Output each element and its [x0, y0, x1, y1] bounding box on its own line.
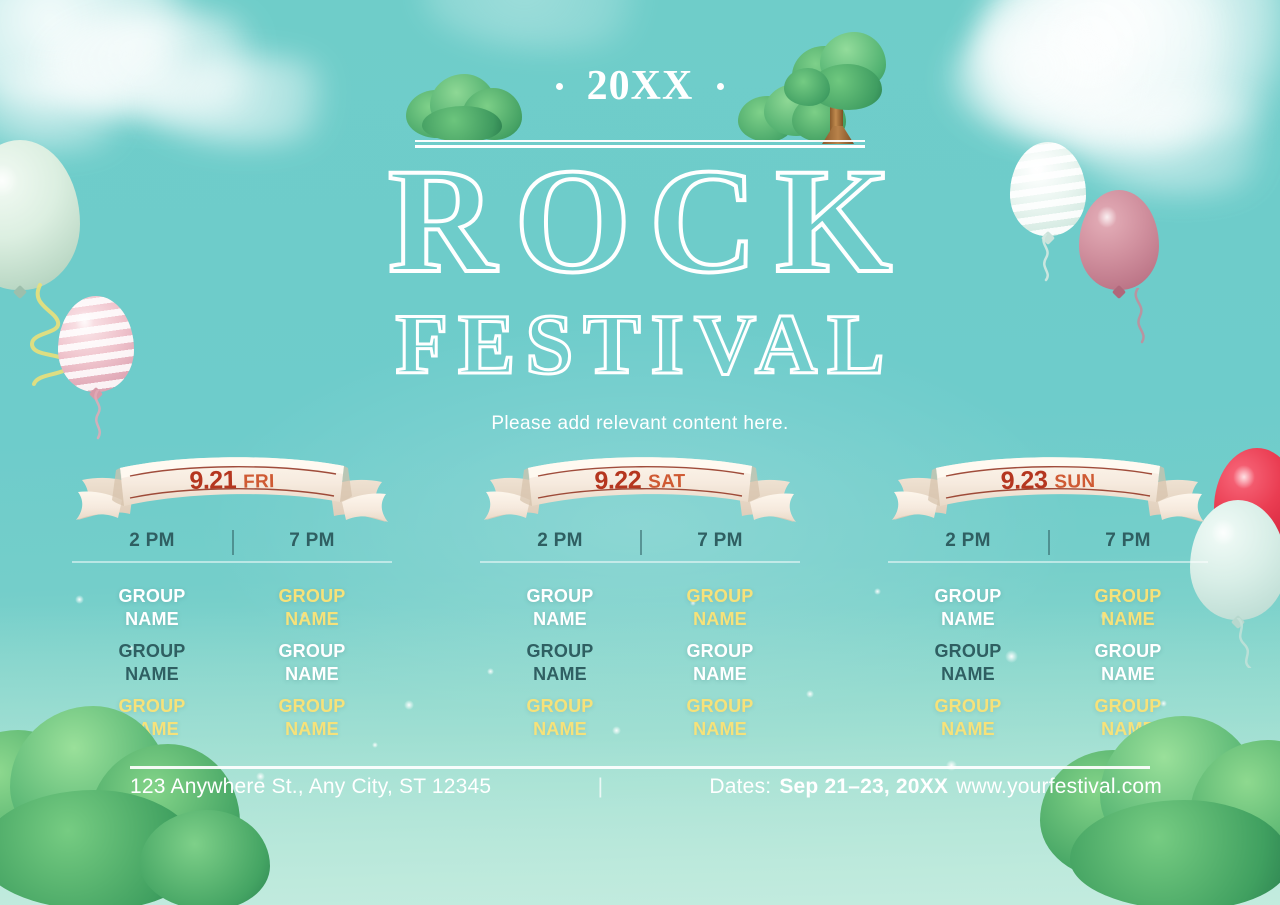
group-name[interactable]: GROUPNAME	[72, 695, 232, 741]
time-header-row: 2 PM7 PM	[480, 530, 800, 563]
group-name[interactable]: GROUPNAME	[1048, 585, 1208, 631]
time-header-row: 2 PM7 PM	[72, 530, 392, 563]
group-name[interactable]: GROUPNAME	[480, 695, 640, 741]
group-lineup: GROUPNAMEGROUPNAMEGROUPNAMEGROUPNAMEGROU…	[480, 585, 800, 741]
group-lineup: GROUPNAMEGROUPNAMEGROUPNAMEGROUPNAMEGROU…	[888, 585, 1208, 741]
lineup-column: GROUPNAMEGROUPNAMEGROUPNAME	[888, 585, 1048, 741]
dates-and-website: Dates: Sep 21–23, 20XX www.yourfestival.…	[709, 775, 1162, 799]
ribbon-date: 9.21	[189, 466, 236, 496]
group-name[interactable]: GROUPNAME	[888, 695, 1048, 741]
header-divider	[415, 140, 865, 148]
poster-header: 20XX ROCK FESTIVAL Please add relevant c…	[0, 60, 1280, 435]
title-block: ROCK FESTIVAL Please add relevant conten…	[0, 148, 1280, 435]
group-lineup: GROUPNAMEGROUPNAMEGROUPNAMEGROUPNAMEGROU…	[72, 585, 392, 741]
group-name[interactable]: GROUPNAME	[232, 585, 392, 631]
time-header-cell: 7 PM	[1048, 530, 1208, 552]
schedule-grid: 9.21FRI2 PM7 PMGROUPNAMEGROUPNAMEGROUPNA…	[0, 452, 1280, 741]
time-header-cell: 2 PM	[72, 530, 232, 552]
lineup-column: GROUPNAMEGROUPNAMEGROUPNAME	[480, 585, 640, 741]
address-text: 123 Anywhere St., Any City, ST 12345	[130, 775, 491, 799]
festival-poster: 20XX ROCK FESTIVAL Please add relevant c…	[0, 0, 1280, 905]
time-header-row: 2 PM7 PM	[888, 530, 1208, 563]
website-link[interactable]: www.yourfestival.com	[956, 775, 1162, 799]
group-name[interactable]: GROUPNAME	[640, 640, 800, 686]
group-name[interactable]: GROUPNAME	[480, 640, 640, 686]
time-column-separator	[232, 530, 234, 555]
footer-separator: |	[594, 775, 607, 799]
lineup-column: GROUPNAMEGROUPNAMEGROUPNAME	[640, 585, 800, 741]
time-column-separator	[640, 530, 642, 555]
time-header-cell: 7 PM	[640, 530, 800, 552]
title-rock: ROCK	[0, 148, 1280, 295]
lineup-column: GROUPNAMEGROUPNAMEGROUPNAME	[1048, 585, 1208, 741]
ribbon-date: 9.22	[594, 466, 641, 496]
title-festival: FESTIVAL	[0, 301, 1280, 387]
date-ribbon: 9.21FRI	[72, 452, 392, 524]
group-name[interactable]: GROUPNAME	[72, 640, 232, 686]
footer-divider	[130, 766, 1150, 769]
poster-footer: 123 Anywhere St., Any City, ST 12345 | D…	[130, 775, 1162, 799]
dates-label: Dates:	[709, 775, 771, 799]
lineup-column: GROUPNAMEGROUPNAMEGROUPNAME	[72, 585, 232, 741]
time-header-cell: 7 PM	[232, 530, 392, 552]
date-ribbon: 9.23SUN	[888, 452, 1208, 524]
group-name[interactable]: GROUPNAME	[480, 585, 640, 631]
lineup-column: GROUPNAMEGROUPNAMEGROUPNAME	[232, 585, 392, 741]
group-name[interactable]: GROUPNAME	[1048, 640, 1208, 686]
ribbon-weekday: SUN	[1054, 471, 1095, 494]
time-column-separator	[1048, 530, 1050, 555]
group-name[interactable]: GROUPNAME	[1048, 695, 1208, 741]
group-name[interactable]: GROUPNAME	[888, 640, 1048, 686]
time-header-cell: 2 PM	[480, 530, 640, 552]
year-label: 20XX	[587, 65, 694, 107]
ribbon-date: 9.23	[1000, 466, 1047, 496]
schedule-day-2: 9.22SAT2 PM7 PMGROUPNAMEGROUPNAMEGROUPNA…	[480, 452, 800, 741]
cloud	[420, 0, 680, 50]
tagline: Please add relevant content here.	[0, 413, 1280, 435]
schedule-day-1: 9.21FRI2 PM7 PMGROUPNAMEGROUPNAMEGROUPNA…	[72, 452, 392, 741]
group-name[interactable]: GROUPNAME	[232, 640, 392, 686]
ribbon-weekday: SAT	[648, 471, 686, 494]
date-ribbon: 9.22SAT	[480, 452, 800, 524]
group-name[interactable]: GROUPNAME	[888, 585, 1048, 631]
year-row: 20XX	[0, 60, 1280, 112]
group-name[interactable]: GROUPNAME	[640, 695, 800, 741]
dates-value: Sep 21–23, 20XX	[779, 775, 948, 799]
decorative-dot-left	[556, 83, 563, 90]
group-name[interactable]: GROUPNAME	[232, 695, 392, 741]
schedule-day-3: 9.23SUN2 PM7 PMGROUPNAMEGROUPNAMEGROUPNA…	[888, 452, 1208, 741]
group-name[interactable]: GROUPNAME	[640, 585, 800, 631]
time-header-cell: 2 PM	[888, 530, 1048, 552]
group-name[interactable]: GROUPNAME	[72, 585, 232, 631]
ribbon-weekday: FRI	[243, 471, 275, 494]
decorative-dot-right	[717, 83, 724, 90]
